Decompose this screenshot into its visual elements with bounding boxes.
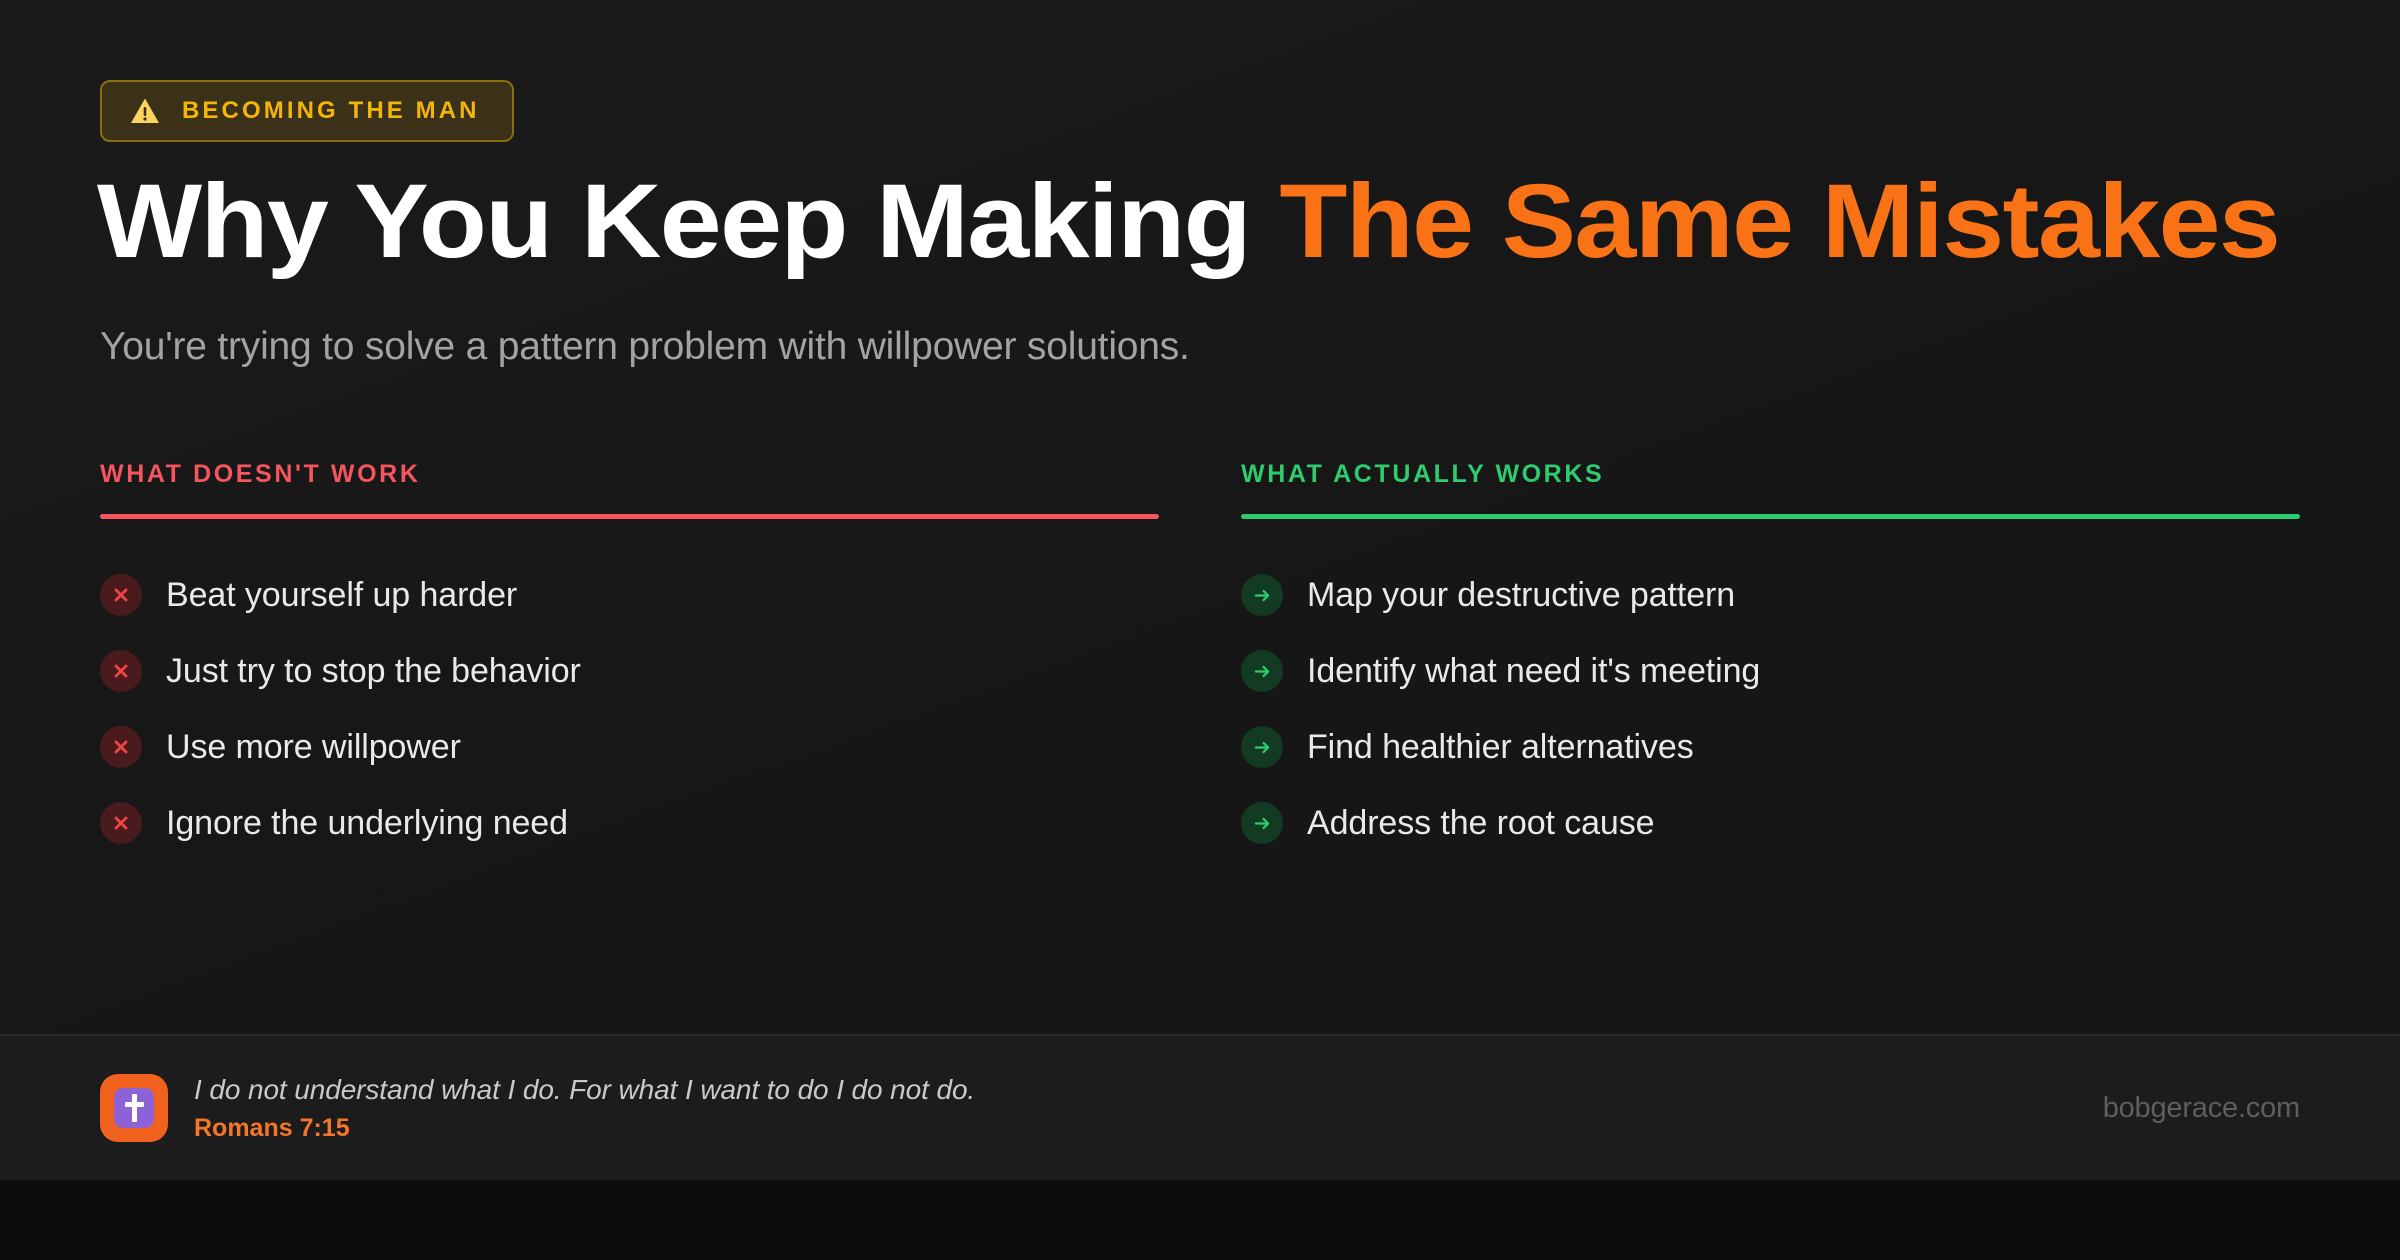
footer-verse: I do not understand what I do. For what … [100, 1074, 975, 1143]
verse-reference: Romans 7:15 [194, 1114, 975, 1143]
page-title-accent: The Same Mistakes [1279, 163, 2279, 280]
x-circle-icon [100, 726, 142, 768]
column-rule-positive [1241, 514, 2300, 519]
arrow-right-circle-icon [1241, 650, 1283, 692]
page-title: Why You Keep Making The Same Mistakes [97, 168, 2279, 275]
bottom-band [0, 1180, 2400, 1260]
footer-bar: I do not understand what I do. For what … [0, 1034, 2400, 1180]
list-item: Identify what need it's meeting [1241, 633, 2300, 709]
list-item-label: Identify what need it's meeting [1307, 652, 1760, 691]
x-circle-icon [100, 802, 142, 844]
column-title-negative: WHAT DOESN'T WORK [100, 462, 1159, 487]
category-badge-label: BECOMING THE MAN [182, 99, 480, 123]
cross-glyph [114, 1088, 154, 1128]
page-title-primary: Why You Keep Making [97, 163, 1279, 280]
list-item: Just try to stop the behavior [100, 633, 1159, 709]
warning-triangle-icon [130, 97, 160, 125]
slide-root: BECOMING THE MAN Why You Keep Making The… [0, 0, 2400, 1260]
list-item: Find healthier alternatives [1241, 709, 2300, 785]
x-circle-icon [100, 574, 142, 616]
list-item-label: Address the root cause [1307, 804, 1654, 843]
list-item-label: Use more willpower [166, 728, 461, 767]
page-subtitle: You're trying to solve a pattern problem… [100, 325, 1190, 369]
column-what-actually-works: WHAT ACTUALLY WORKS Map your destructive… [1241, 462, 2300, 861]
site-url: bobgerace.com [2103, 1092, 2300, 1125]
list-item: Ignore the underlying need [100, 785, 1159, 861]
column-title-positive: WHAT ACTUALLY WORKS [1241, 462, 2300, 487]
x-circle-icon [100, 650, 142, 692]
list-negative: Beat yourself up harder Just try to stop… [100, 557, 1159, 861]
column-what-doesnt-work: WHAT DOESN'T WORK Beat yourself up harde… [100, 462, 1159, 861]
category-badge: BECOMING THE MAN [100, 80, 514, 142]
list-item-label: Just try to stop the behavior [166, 652, 581, 691]
column-rule-negative [100, 514, 1159, 519]
list-item-label: Beat yourself up harder [166, 576, 517, 615]
verse-quote: I do not understand what I do. For what … [194, 1074, 975, 1106]
list-item-label: Map your destructive pattern [1307, 576, 1735, 615]
list-item-label: Ignore the underlying need [166, 804, 568, 843]
cross-app-icon [100, 1074, 168, 1142]
slide-stage: BECOMING THE MAN Why You Keep Making The… [0, 0, 2400, 1034]
list-item: Beat yourself up harder [100, 557, 1159, 633]
comparison-columns: WHAT DOESN'T WORK Beat yourself up harde… [100, 462, 2300, 861]
list-item: Map your destructive pattern [1241, 557, 2300, 633]
arrow-right-circle-icon [1241, 574, 1283, 616]
list-positive: Map your destructive pattern Identify wh… [1241, 557, 2300, 861]
arrow-right-circle-icon [1241, 726, 1283, 768]
arrow-right-circle-icon [1241, 802, 1283, 844]
list-item: Address the root cause [1241, 785, 2300, 861]
verse-text-block: I do not understand what I do. For what … [194, 1074, 975, 1143]
list-item: Use more willpower [100, 709, 1159, 785]
list-item-label: Find healthier alternatives [1307, 728, 1694, 767]
